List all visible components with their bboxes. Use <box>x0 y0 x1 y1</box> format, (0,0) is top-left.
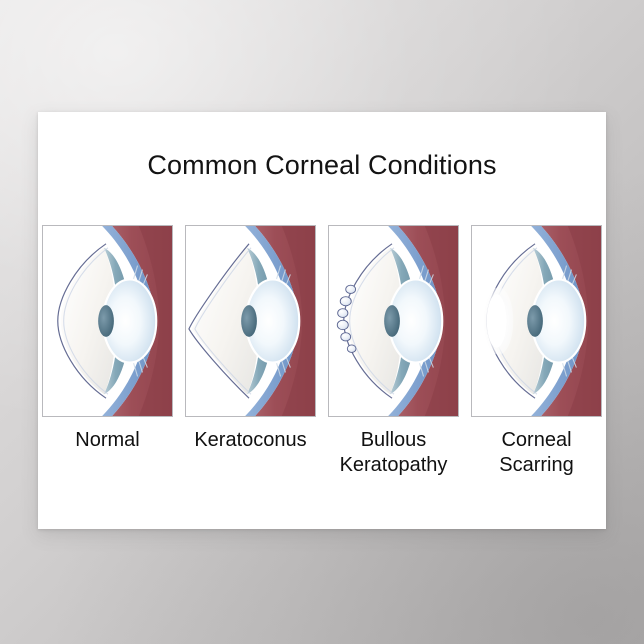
caption-corneal-scarring: Corneal Scarring <box>471 428 602 478</box>
eye-panel-bullous-keratopathy[interactable] <box>328 225 459 417</box>
caption-line: Corneal <box>471 428 602 453</box>
caption-line: Bullous <box>328 428 459 453</box>
eye-panel-keratoconus[interactable] <box>185 225 316 417</box>
page-title: Common Corneal Conditions <box>38 150 606 181</box>
eye-cross-section-icon <box>43 226 172 416</box>
caption-line: Normal <box>42 428 173 453</box>
caption-line: Scarring <box>471 453 602 478</box>
panel-caption-strip: Normal Keratoconus Bullous Keratopathy C… <box>42 428 602 478</box>
caption-bullous-keratopathy: Bullous Keratopathy <box>328 428 459 478</box>
caption-normal: Normal <box>42 428 173 453</box>
eye-cross-section-icon <box>472 226 601 416</box>
eye-panel-corneal-scarring[interactable] <box>471 225 602 417</box>
caption-line: Keratoconus <box>185 428 316 453</box>
eye-diagram-panel-strip <box>42 225 602 417</box>
caption-line: Keratopathy <box>328 453 459 478</box>
caption-keratoconus: Keratoconus <box>185 428 316 453</box>
poster-scene: Common Corneal Conditions <box>0 0 644 644</box>
eye-cross-section-icon <box>186 226 315 416</box>
eye-panel-normal[interactable] <box>42 225 173 417</box>
corneal-scar-patch <box>484 287 514 354</box>
poster-sheet: Common Corneal Conditions <box>38 112 606 529</box>
eye-cross-section-icon <box>329 226 458 416</box>
